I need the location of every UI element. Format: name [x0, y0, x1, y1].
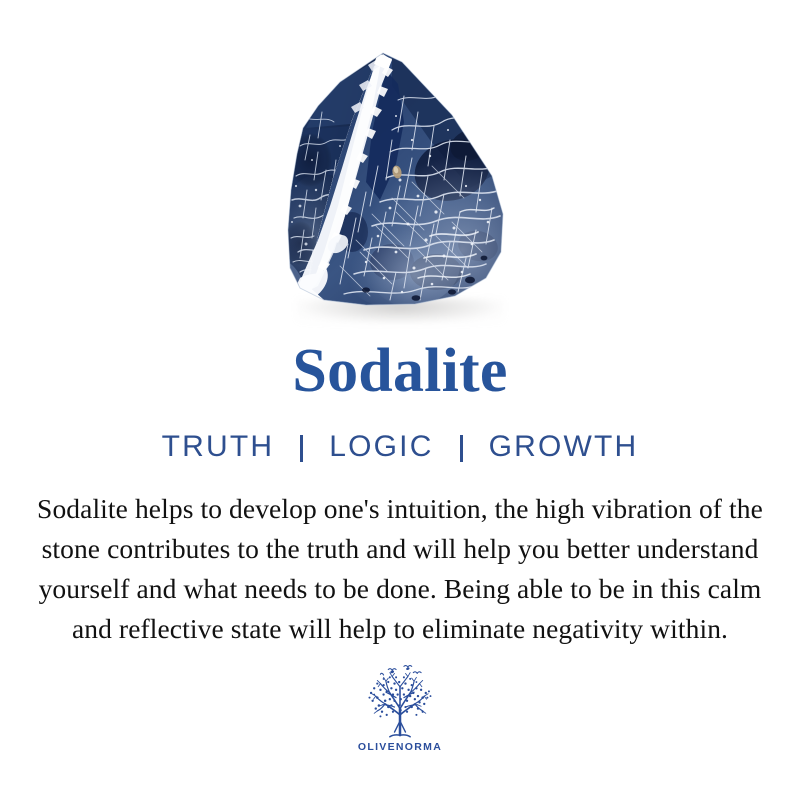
hero-image-container — [0, 0, 800, 330]
keyword-separator-2 — [460, 435, 463, 462]
keyword-row: TRUTH LOGIC GROWTH — [162, 430, 639, 464]
brand-logo: OLIVENORMA — [357, 660, 443, 753]
keyword-separator-1 — [300, 435, 303, 462]
keyword-growth: GROWTH — [489, 430, 639, 464]
description-text: Sodalite helps to develop one's intuitio… — [22, 489, 778, 649]
sodalite-info-card: Sodalite TRUTH LOGIC GROWTH Sodalite hel… — [0, 0, 800, 800]
keyword-logic: LOGIC — [329, 430, 433, 464]
tree-of-life-icon — [357, 660, 443, 740]
brand-wordmark: OLIVENORMA — [358, 741, 442, 753]
page-title: Sodalite — [292, 340, 507, 402]
sodalite-crystal-point-image — [0, 0, 800, 330]
keyword-truth: TRUTH — [162, 430, 275, 464]
